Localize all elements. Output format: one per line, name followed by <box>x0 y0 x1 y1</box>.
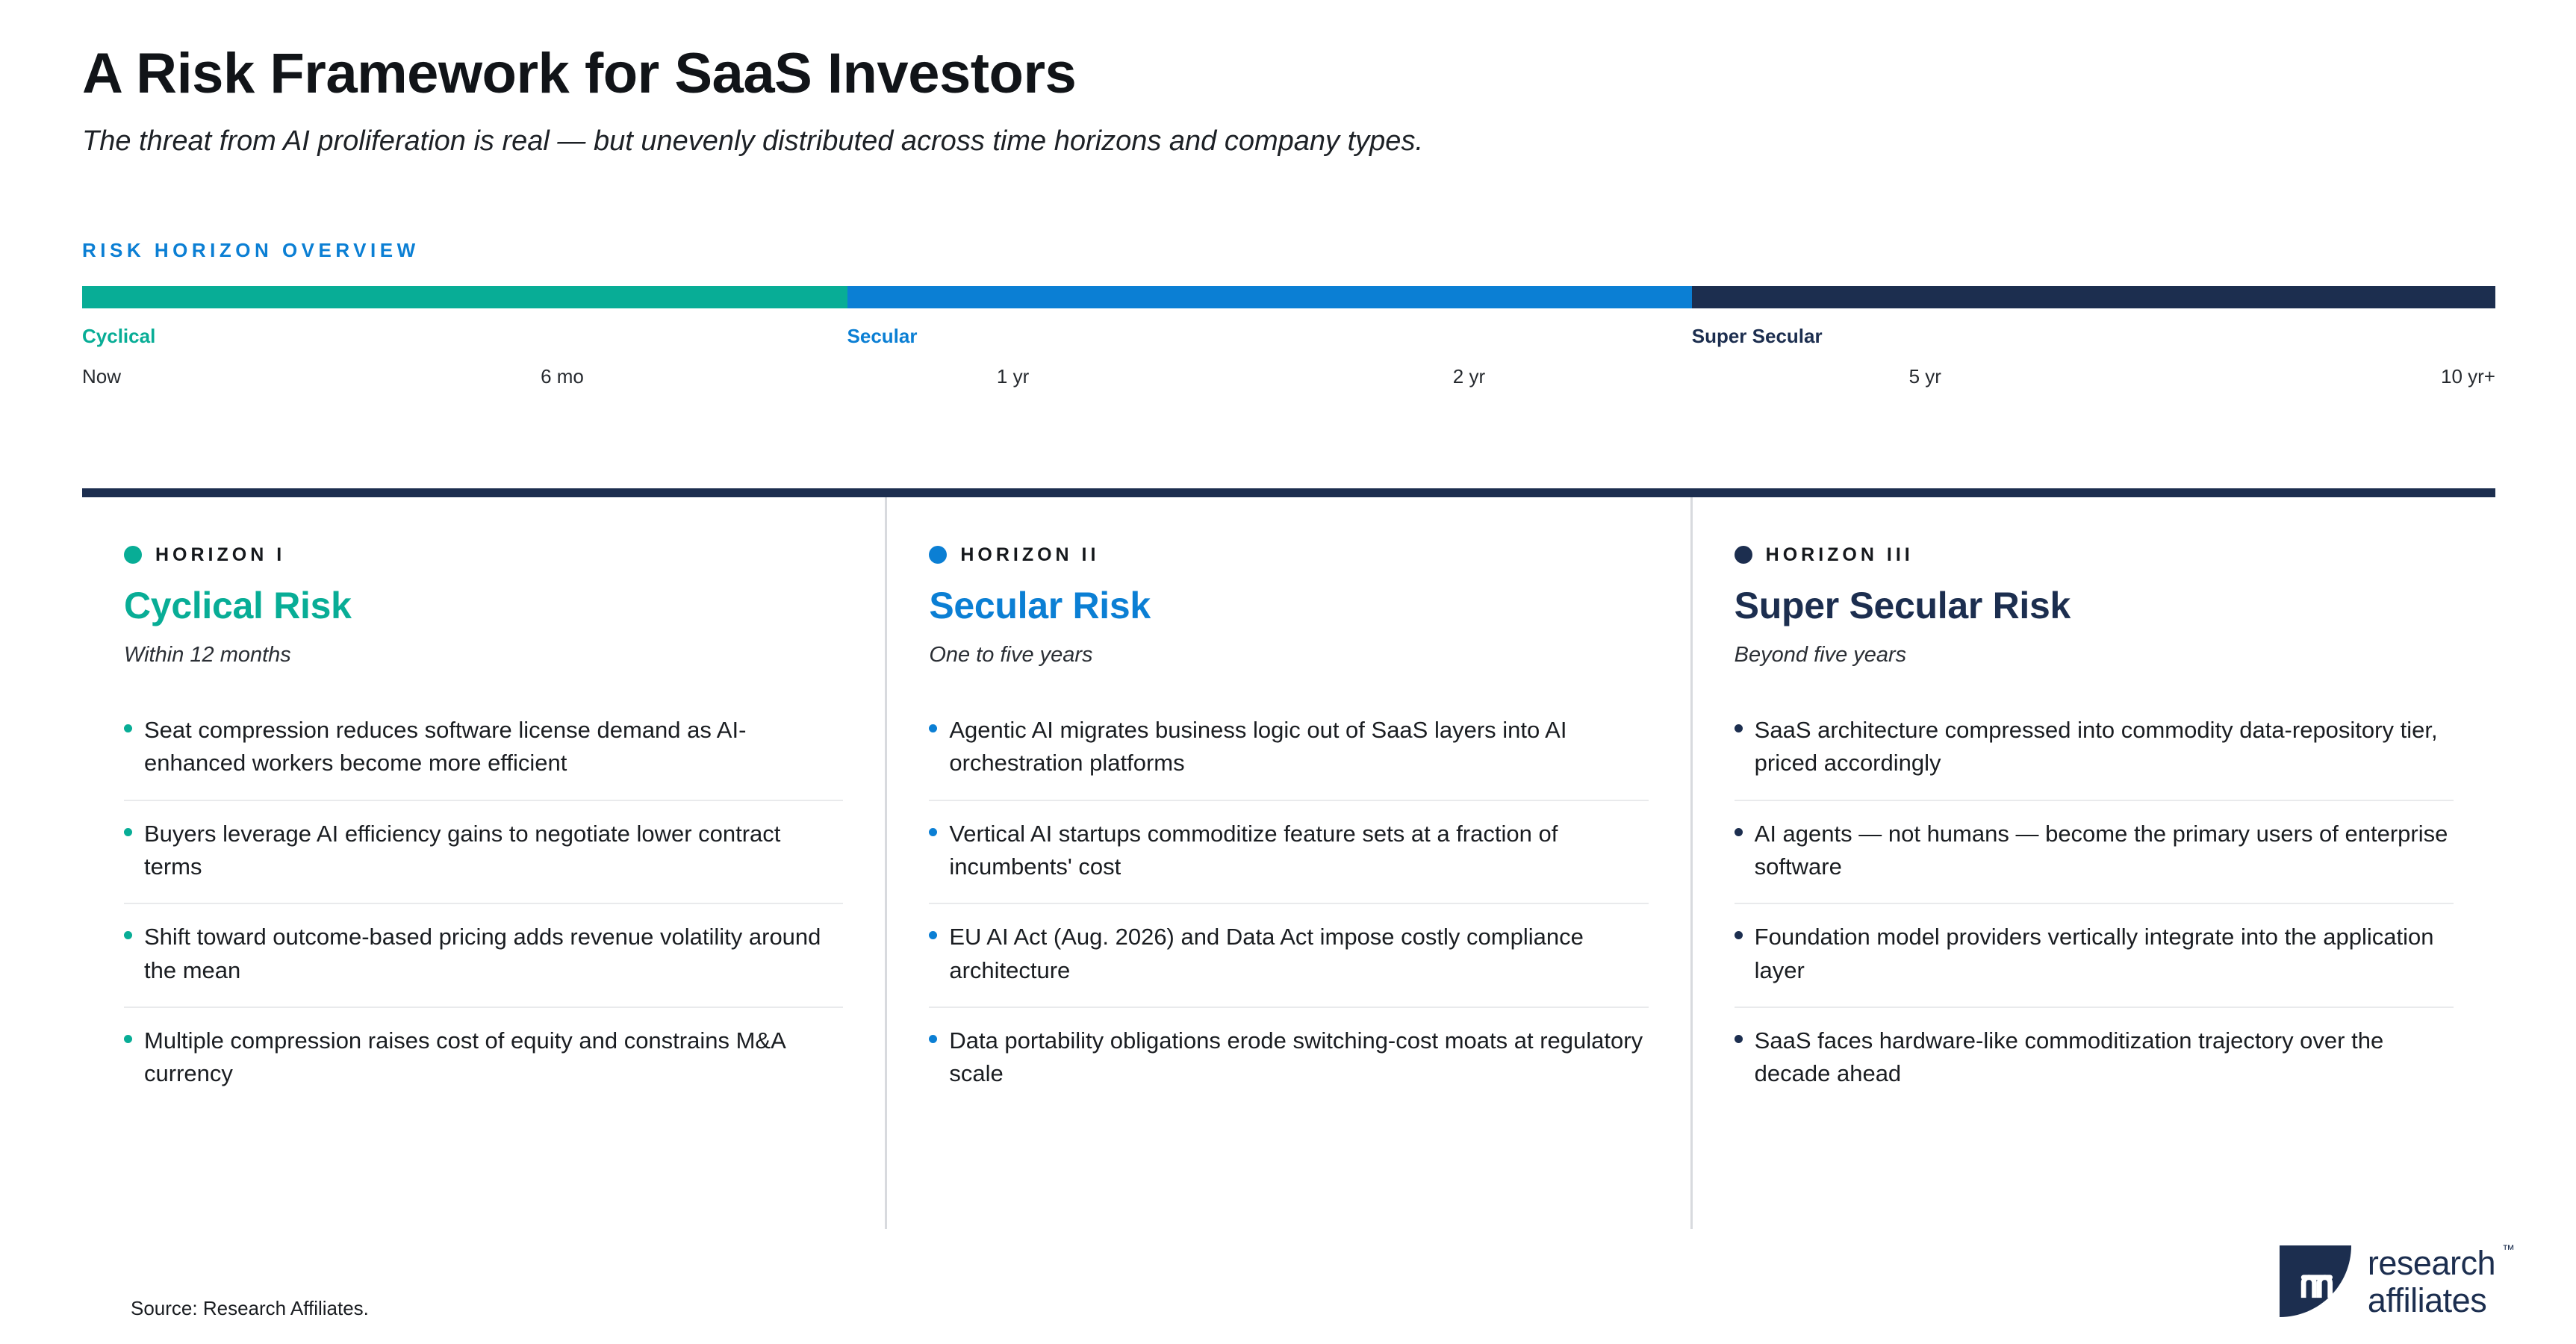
list-item: Vertical AI startups commoditize feature… <box>929 800 1648 903</box>
page-subtitle: The threat from AI proliferation is real… <box>82 124 2501 160</box>
horizon-title-2: Secular Risk <box>929 585 1648 626</box>
horizon-columns: HORIZON I Cyclical Risk Within 12 months… <box>82 497 2495 1229</box>
list-item: AI agents — not humans — become the prim… <box>1735 800 2454 903</box>
list-item: EU AI Act (Aug. 2026) and Data Act impos… <box>929 903 1648 1007</box>
horizon-subtitle-1: Within 12 months <box>124 643 843 668</box>
timeline-tick: 2 yr <box>1453 365 1485 388</box>
source-note: Source: Research Affiliates. <box>131 1297 369 1320</box>
infographic-page: A Risk Framework for SaaS Investors The … <box>0 0 2576 1344</box>
bullet-text: AI agents — not humans — become the prim… <box>1755 818 2454 884</box>
logo-wordmark: research™ affiliates <box>2368 1246 2495 1317</box>
horizon-kicker-label: HORIZON II <box>960 544 1099 566</box>
bullet-dot-icon <box>929 1035 937 1043</box>
bullet-text: Vertical AI startups commoditize feature… <box>949 818 1648 884</box>
section-divider-rule <box>82 488 2495 497</box>
timeline-bar <box>82 286 2495 308</box>
horizon-bullet-list-3: SaaS architecture compressed into commod… <box>1735 697 2454 1110</box>
horizon-dot-icon <box>124 546 142 564</box>
timeline-segment-secular <box>847 286 1692 308</box>
logo-line-2: affiliates <box>2368 1284 2495 1317</box>
list-item: Shift toward outcome-based pricing adds … <box>124 903 843 1007</box>
timeline-label-cyclical: Cyclical <box>82 325 155 348</box>
bullet-dot-icon <box>1735 724 1743 732</box>
list-item: SaaS architecture compressed into commod… <box>1735 697 2454 800</box>
timeline-ticks: Now 6 mo 1 yr 2 yr 5 yr 10 yr+ <box>82 365 2495 395</box>
horizon-subtitle-2: One to five years <box>929 643 1648 668</box>
bullet-text: Buyers leverage AI efficiency gains to n… <box>144 818 843 884</box>
list-item: Agentic AI migrates business logic out o… <box>929 697 1648 800</box>
list-item: SaaS faces hardware-like commoditization… <box>1735 1007 2454 1110</box>
list-item: Data portability obligations erode switc… <box>929 1007 1648 1110</box>
timeline-tick: 1 yr <box>997 365 1029 388</box>
timeline-segment-super-secular <box>1692 286 2495 308</box>
header: A Risk Framework for SaaS Investors The … <box>82 45 2501 159</box>
bullet-text: Seat compression reduces software licens… <box>144 714 843 780</box>
timeline-segment-labels: Cyclical Secular Super Secular <box>82 325 2495 356</box>
bullet-dot-icon <box>124 724 132 732</box>
bullet-dot-icon <box>1735 828 1743 836</box>
timeline-tick: 10 yr+ <box>2441 365 2495 388</box>
horizon-column-2: HORIZON II Secular Risk One to five year… <box>885 497 1690 1229</box>
timeline-tick: Now <box>82 365 121 388</box>
research-affiliates-mark-icon <box>2280 1245 2351 1317</box>
horizon-column-1: HORIZON I Cyclical Risk Within 12 months… <box>82 497 885 1229</box>
bullet-dot-icon <box>929 724 937 732</box>
bullet-text: Agentic AI migrates business logic out o… <box>949 714 1648 780</box>
bullet-text: Multiple compression raises cost of equi… <box>144 1024 843 1091</box>
timeline-segment-cyclical <box>82 286 847 308</box>
bullet-text: Foundation model providers vertically in… <box>1755 921 2454 987</box>
timeline-label-secular: Secular <box>847 325 918 348</box>
horizon-kicker-1: HORIZON I <box>124 544 843 566</box>
horizon-kicker-2: HORIZON II <box>929 544 1648 566</box>
bullet-text: SaaS faces hardware-like commoditization… <box>1755 1024 2454 1091</box>
horizon-title-1: Cyclical Risk <box>124 585 843 626</box>
list-item: Multiple compression raises cost of equi… <box>124 1007 843 1110</box>
horizon-kicker-3: HORIZON III <box>1735 544 2454 566</box>
horizon-bullet-list-2: Agentic AI migrates business logic out o… <box>929 697 1648 1110</box>
list-item: Seat compression reduces software licens… <box>124 697 843 800</box>
list-item: Foundation model providers vertically in… <box>1735 903 2454 1007</box>
bullet-dot-icon <box>929 931 937 939</box>
list-item: Buyers leverage AI efficiency gains to n… <box>124 800 843 903</box>
bullet-dot-icon <box>1735 931 1743 939</box>
timeline-label-super-secular: Super Secular <box>1692 325 1823 348</box>
bullet-text: Shift toward outcome-based pricing adds … <box>144 921 843 987</box>
research-affiliates-logo: research™ affiliates <box>2280 1245 2495 1317</box>
trademark-icon: ™ <box>2502 1243 2515 1256</box>
bullet-text: EU AI Act (Aug. 2026) and Data Act impos… <box>949 921 1648 987</box>
logo-line-1: research <box>2368 1244 2495 1282</box>
horizon-dot-icon <box>1735 546 1752 564</box>
bullet-dot-icon <box>124 931 132 939</box>
timeline-tick: 6 mo <box>541 365 584 388</box>
bullet-dot-icon <box>124 828 132 836</box>
section-label: RISK HORIZON OVERVIEW <box>82 239 420 262</box>
bullet-dot-icon <box>124 1035 132 1043</box>
bullet-text: Data portability obligations erode switc… <box>949 1024 1648 1091</box>
horizon-kicker-label: HORIZON III <box>1766 544 1914 566</box>
horizon-kicker-label: HORIZON I <box>155 544 285 566</box>
timeline-tick: 5 yr <box>1909 365 1941 388</box>
risk-horizon-timeline: Cyclical Secular Super Secular Now 6 mo … <box>82 286 2495 395</box>
bullet-text: SaaS architecture compressed into commod… <box>1755 714 2454 780</box>
bullet-dot-icon <box>1735 1035 1743 1043</box>
horizon-subtitle-3: Beyond five years <box>1735 643 2454 668</box>
horizon-title-3: Super Secular Risk <box>1735 585 2454 626</box>
horizon-bullet-list-1: Seat compression reduces software licens… <box>124 697 843 1110</box>
horizon-dot-icon <box>929 546 947 564</box>
page-title: A Risk Framework for SaaS Investors <box>82 45 2501 103</box>
horizon-column-3: HORIZON III Super Secular Risk Beyond fi… <box>1690 497 2495 1229</box>
bullet-dot-icon <box>929 828 937 836</box>
